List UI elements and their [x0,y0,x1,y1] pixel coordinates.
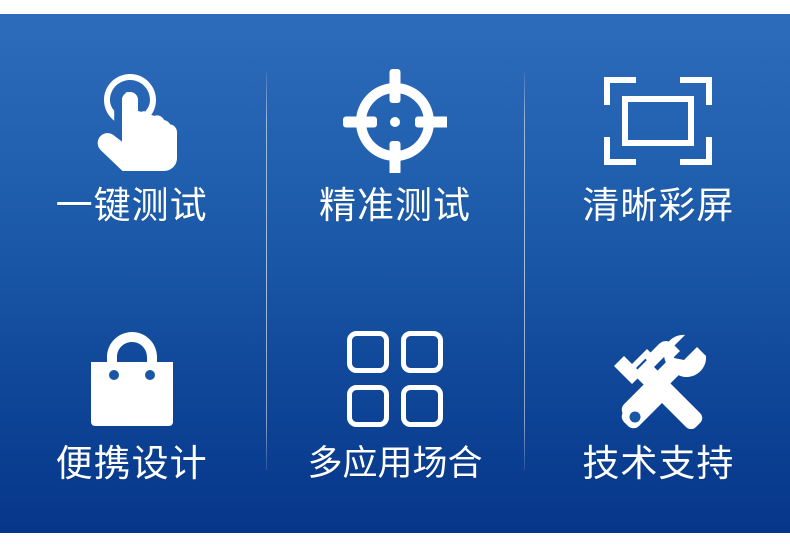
feature-label: 精准测试 [319,188,471,225]
crosshair-target-icon [343,62,447,180]
feature-item-technical-support[interactable]: 技术支持 [527,274,790,534]
feature-label: 便携设计 [56,446,208,483]
feature-item-clear-color-screen[interactable]: 清晰彩屏 [527,14,790,274]
four-squares-grid-icon [346,320,444,438]
feature-grid: 一键测试 精准测试 [0,14,790,533]
gradient-banner: 一键测试 精准测试 [0,14,790,533]
feature-item-multi-application[interactable]: 多应用场合 [263,274,526,534]
feature-item-accurate-test[interactable]: 精准测试 [263,14,526,274]
feature-label: 一键测试 [56,188,208,225]
feature-label: 多应用场合 [307,446,482,481]
feature-item-one-key-test[interactable]: 一键测试 [0,14,263,274]
handbag-icon [87,320,177,438]
screen-frame-icon [603,62,713,180]
hammer-wrench-icon [606,320,710,438]
feature-item-portable-design[interactable]: 便携设计 [0,274,263,534]
hand-tap-icon [84,62,180,180]
feature-banner-page: 一键测试 精准测试 [0,0,790,545]
feature-label: 清晰彩屏 [582,188,734,225]
feature-label: 技术支持 [582,446,734,483]
